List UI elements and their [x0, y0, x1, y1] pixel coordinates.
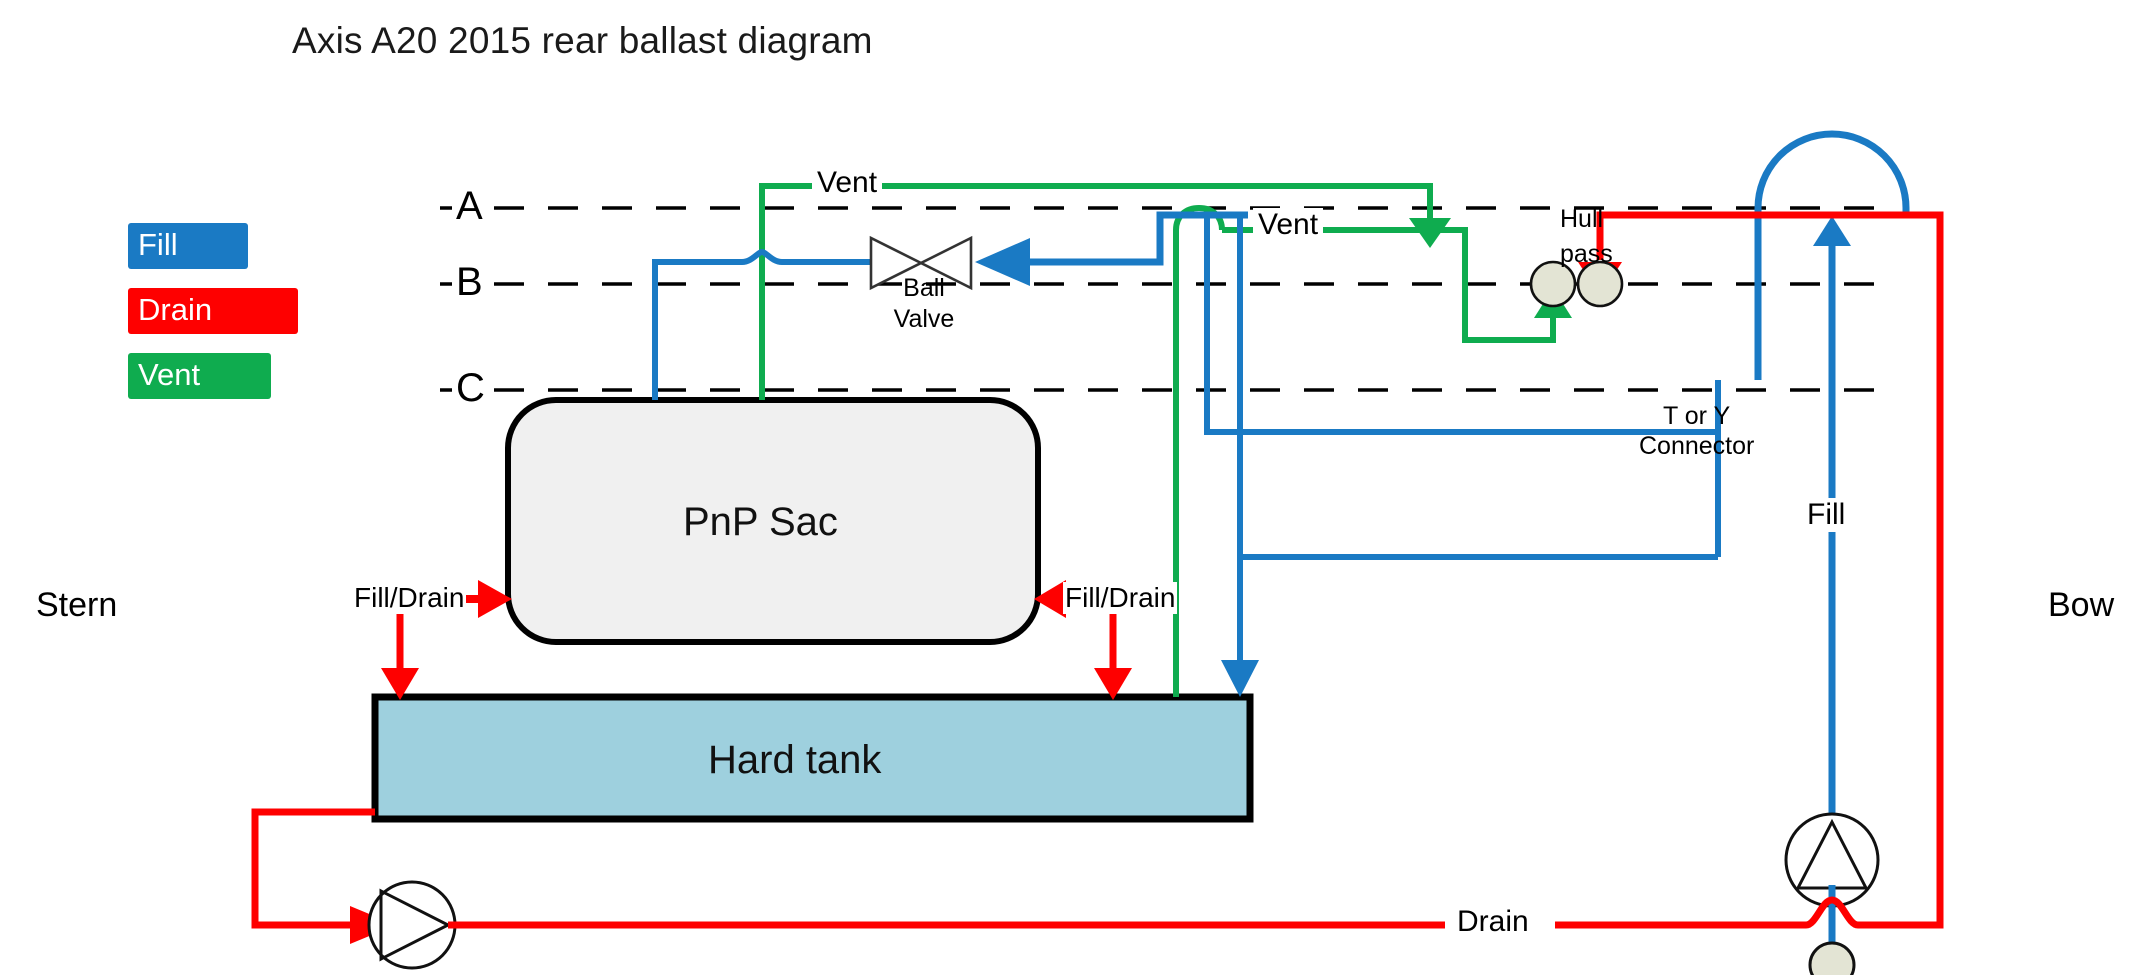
diagram-canvas: Axis A20 2015 rear ballast diagram Fill …	[0, 0, 2156, 975]
fill-drain-arrow-left-to-tank	[381, 612, 419, 700]
drain-pump-symbol	[369, 882, 455, 968]
hull-pass-fitting-vent	[1531, 262, 1575, 306]
vent-label-mid: Vent	[1253, 208, 1323, 242]
ball-valve-label-line2: Valve	[889, 305, 959, 333]
stern-label: Stern	[36, 586, 117, 625]
hull-pass-label-line1: Hull	[1560, 205, 1603, 233]
fill-label-right: Fill	[1802, 498, 1850, 532]
hull-pass-label-line2: pass	[1560, 240, 1613, 268]
legend-item-drain: Drain	[128, 288, 298, 334]
pnp-sac-label: PnP Sac	[683, 500, 838, 545]
vent-label-top: Vent	[812, 166, 882, 200]
reference-label-c: C	[452, 366, 489, 411]
fill-drain-label-left: Fill/Drain	[352, 582, 466, 614]
connector-label-line2: Connector	[1639, 432, 1754, 460]
legend-item-fill: Fill	[128, 223, 248, 269]
ballast-schematic	[0, 0, 2156, 975]
fill-drain-arrow-right-to-tank	[1094, 612, 1132, 700]
vent-line-tank	[1176, 208, 1430, 697]
ball-valve-label-line1: Ball	[889, 274, 959, 302]
legend-label-vent: Vent	[138, 357, 200, 392]
legend-label-fill: Fill	[138, 227, 178, 262]
legend-item-vent: Vent	[128, 353, 271, 399]
hard-tank-label: Hard tank	[708, 738, 881, 783]
fill-drain-label-right: Fill/Drain	[1063, 582, 1177, 614]
thru-hull-intake-fitting	[1810, 943, 1854, 975]
bow-label: Bow	[2048, 586, 2114, 625]
page-title: Axis A20 2015 rear ballast diagram	[292, 20, 873, 62]
drain-label-bottom: Drain	[1452, 905, 1534, 939]
vent-line-sac	[762, 186, 1430, 400]
legend-label-drain: Drain	[138, 292, 212, 327]
reference-label-b: B	[452, 260, 487, 305]
connector-label-line1: T or Y	[1663, 402, 1730, 430]
hull-pass-fitting-drain	[1578, 262, 1622, 306]
reference-label-a: A	[452, 184, 487, 229]
